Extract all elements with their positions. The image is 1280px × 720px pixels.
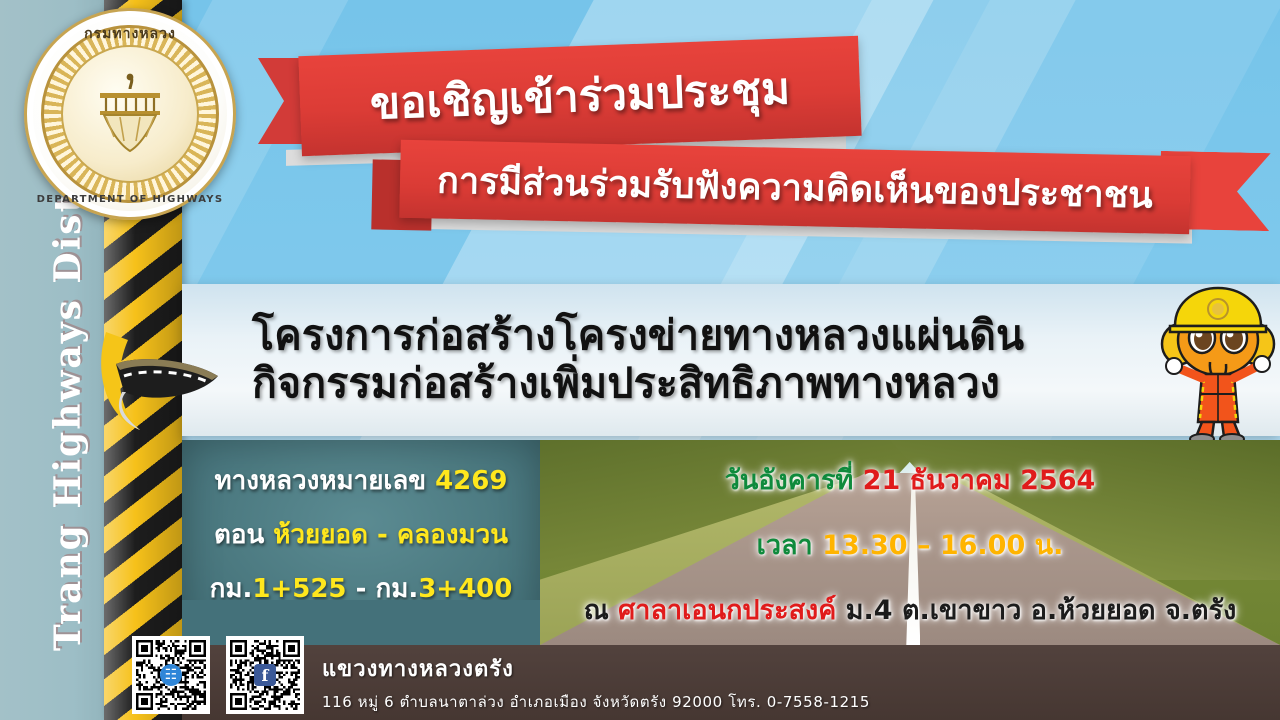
route-number: 4269 [435,466,507,496]
event-venue-row: ณ ศาลาเอนกประสงค์ ม.4 ต.เขาขาว อ.ห้วยยอด… [584,588,1237,631]
section-value: ห้วยยอด - คลองมวน [273,520,508,550]
project-title-line-2: กิจกรรมก่อสร้างเพิ่มประสิทธิภาพทางหลวง [252,360,1280,408]
event-time-row: เวลา 13.30 – 16.00 น. [757,523,1064,566]
event-date-row: วันอังคารที่ 21 ธันวาคม 2564 [725,458,1096,501]
venue-address: ม.4 ต.เขาขาว อ.ห้วยยอด จ.ตรัง [846,595,1237,626]
qr-code-group: ☷ f [132,636,304,714]
event-details-panel: วันอังคารที่ 21 ธันวาคม 2564 เวลา 13.30 … [540,440,1280,645]
route-section-row: ตอน ห้วยยอด - คลองมวน [214,514,508,555]
seal-inner-emblem [61,45,199,183]
venue-prefix: ณ [584,595,609,626]
ribbon-primary-text: ขอเชิญเข้าร่วมประชุม [369,53,791,138]
venue-name: ศาลาเอนกประสงค์ [618,595,836,626]
facebook-icon: f [254,664,276,686]
project-title-panel: โครงการก่อสร้างโครงข่ายทางหลวงแผ่นดิน กิ… [182,284,1280,436]
highway-meeting-invitation-poster: Trang Highways District โครงการก่อสร้างโ… [0,0,1280,720]
seal-english-text: DEPARTMENT OF HIGHWAYS [27,194,233,205]
department-of-highways-seal: กรมทางหลวง DEPARTMENT OF HIGHWAYS [24,8,236,220]
ribbon-primary: ขอเชิญเข้าร่วมประชุม [298,36,861,156]
ribbon-secondary-text: การมีส่วนร่วมรับฟังความคิดเห็นของประชาชน [437,151,1154,223]
project-title-line-1: โครงการก่อสร้างโครงข่ายทางหลวงแผ่นดิน [252,312,1280,360]
section-label: ตอน [214,520,264,550]
elephant-engineer-mascot [1158,282,1278,447]
route-label: ทางหลวงหมายเลข [215,466,427,496]
event-time-unit: น. [1035,530,1064,561]
office-footer: แขวงทางหลวงตรัง 116 หมู่ 6 ตำบลนาตาล่วง … [182,645,1280,720]
facebook-qr-code[interactable]: f [226,636,304,714]
seal-emblem-icon [84,71,176,157]
highway-swoosh-icon [88,318,238,438]
web-icon: ☷ [160,664,182,686]
office-address: 116 หมู่ 6 ตำบลนาตาล่วง อำเภอเมือง จังหว… [322,690,1280,714]
route-number-row: ทางหลวงหมายเลข 4269 [215,460,508,501]
ribbon-secondary: การมีส่วนร่วมรับฟังความคิดเห็นของประชาชน [399,140,1190,235]
event-date-value: 21 ธันวาคม 2564 [863,465,1096,496]
event-time-value: 13.30 – 16.00 [822,530,1025,561]
event-time-label: เวลา [757,530,813,561]
office-name: แขวงทางหลวงตรัง [322,651,1280,686]
event-date-label: วันอังคารที่ [725,465,854,496]
seal-thai-text: กรมทางหลวง [27,23,233,45]
website-qr-code[interactable]: ☷ [132,636,210,714]
